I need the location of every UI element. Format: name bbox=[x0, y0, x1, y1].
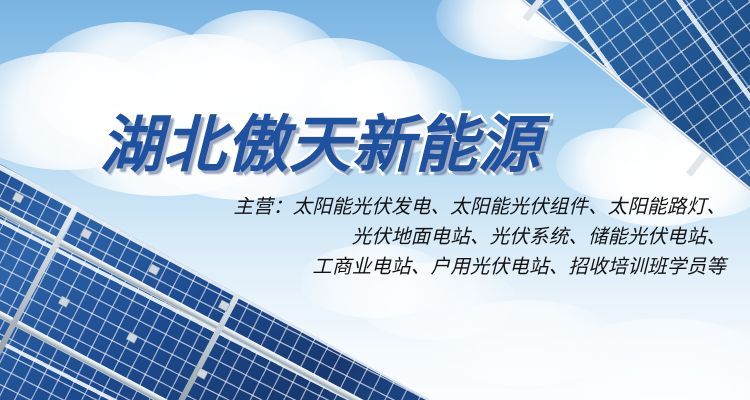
business-scope-line-1: 主营：太阳能光伏发电、太阳能光伏组件、太阳能路灯、 bbox=[120, 192, 726, 222]
cloud-icon bbox=[430, 300, 620, 386]
company-title: 湖北傲天新能源 bbox=[100, 104, 620, 186]
business-scope: 主营：太阳能光伏发电、太阳能光伏组件、太阳能路灯、 光伏地面电站、光伏系统、储能… bbox=[120, 192, 726, 282]
business-scope-line-3: 工商业电站、户用光伏电站、招收培训班学员等 bbox=[120, 252, 726, 282]
company-title-text: 湖北傲天新能源 bbox=[100, 114, 541, 176]
business-scope-line-2: 光伏地面电站、光伏系统、储能光伏电站、 bbox=[120, 222, 726, 252]
solar-company-banner: 湖北傲天新能源 主营：太阳能光伏发电、太阳能光伏组件、太阳能路灯、 光伏地面电站… bbox=[0, 0, 750, 400]
cloud-icon bbox=[560, 318, 750, 400]
